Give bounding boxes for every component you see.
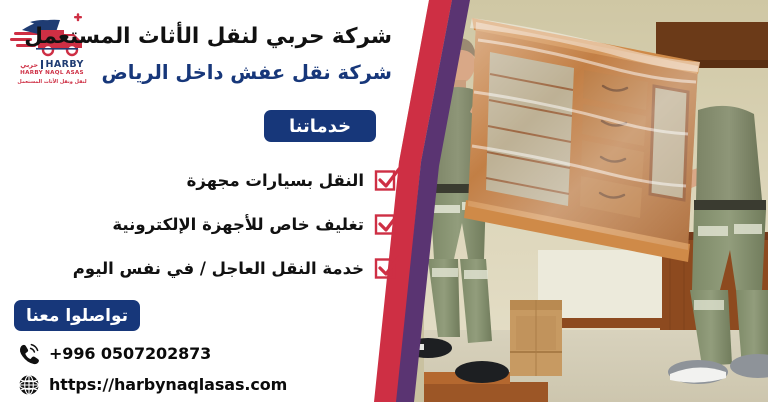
- checkbox-checked-icon: [374, 211, 400, 237]
- service-label: خدمة النقل العاجل / في نفس اليوم: [73, 259, 364, 278]
- checkbox-checked-icon: [374, 255, 400, 281]
- website-url: https://harbynaqlasas.com: [49, 375, 287, 394]
- cardboard-box: [510, 300, 562, 376]
- services-list: النقل بسيارات مجهزة تغليف خاص للأجهزة ال…: [60, 158, 400, 290]
- service-label: تغليف خاص للأجهزة الإلكترونية: [112, 215, 364, 234]
- promo-banner: حربي HARBY HARBY NAQL ASAS لنقل ونقل الأ…: [0, 0, 768, 402]
- logo-arabic-name: حربي: [20, 61, 38, 69]
- website-row[interactable]: https://harbynaqlasas.com: [18, 369, 338, 400]
- service-label: النقل بسيارات مجهزة: [187, 171, 364, 190]
- phone-ringing-icon: [18, 343, 40, 365]
- checkbox-checked-icon: [374, 167, 400, 193]
- globe-icon: [18, 374, 40, 396]
- phone-number: +996 0507202873: [49, 344, 211, 363]
- services-badge: خدماتنا: [264, 110, 376, 142]
- contact-badge: تواصلوا معنا: [14, 300, 140, 331]
- service-item: النقل بسيارات مجهزة: [60, 158, 400, 202]
- service-item: تغليف خاص للأجهزة الإلكترونية: [60, 202, 400, 246]
- page-subtitle: شركة نقل عفش داخل الرياض: [62, 61, 392, 84]
- movers-photo: [398, 0, 768, 402]
- movers-photo-illustration: [398, 0, 768, 402]
- logo-divider: [41, 60, 43, 69]
- content-pane: حربي HARBY HARBY NAQL ASAS لنقل ونقل الأ…: [0, 0, 430, 402]
- service-item: خدمة النقل العاجل / في نفس اليوم: [60, 246, 400, 290]
- phone-row[interactable]: +996 0507202873: [18, 338, 338, 369]
- page-title: شركة حربي لنقل الأثاث المستعمل: [62, 24, 392, 49]
- contact-details: +996 0507202873 https://harbynaqlasas.co…: [18, 338, 338, 400]
